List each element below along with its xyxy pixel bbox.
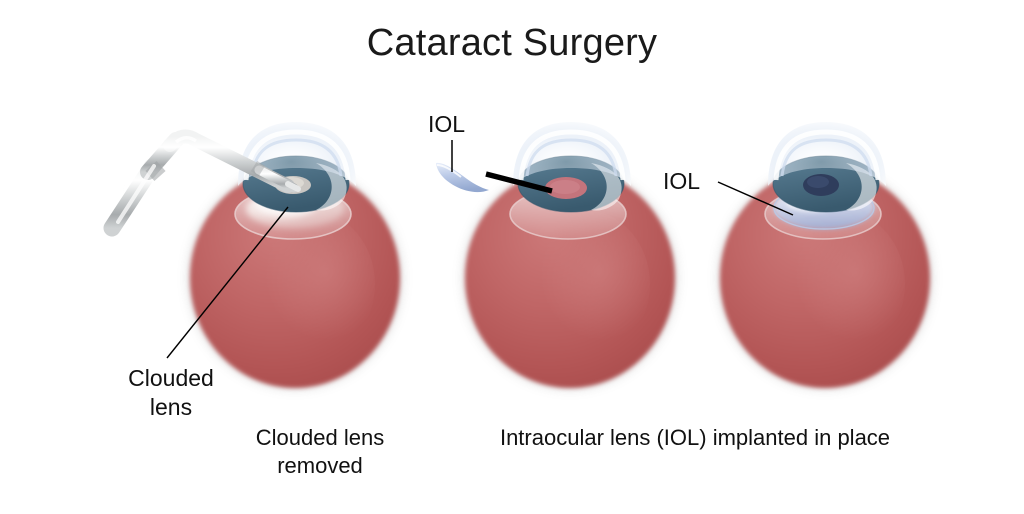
pupil-2 [545,177,587,199]
caption-iol-implanted: Intraocular lens (IOL) implanted in plac… [455,424,935,452]
caption-clouded-lens-removed: Clouded lens removed [200,424,440,479]
illustration-canvas: Cataract Surgery [0,0,1024,514]
eye-panel-iol-insertion [436,122,678,390]
pupil-3 [803,174,839,196]
annotation-iol-right: IOL [663,167,723,196]
annotation-clouded-lens: Clouded lens [96,364,246,422]
iol-lens-free [436,163,489,192]
annotation-iol-middle: IOL [428,110,488,139]
eye-panel-iol-implanted [717,122,933,390]
eye-panel-clouded-lens [103,122,403,390]
